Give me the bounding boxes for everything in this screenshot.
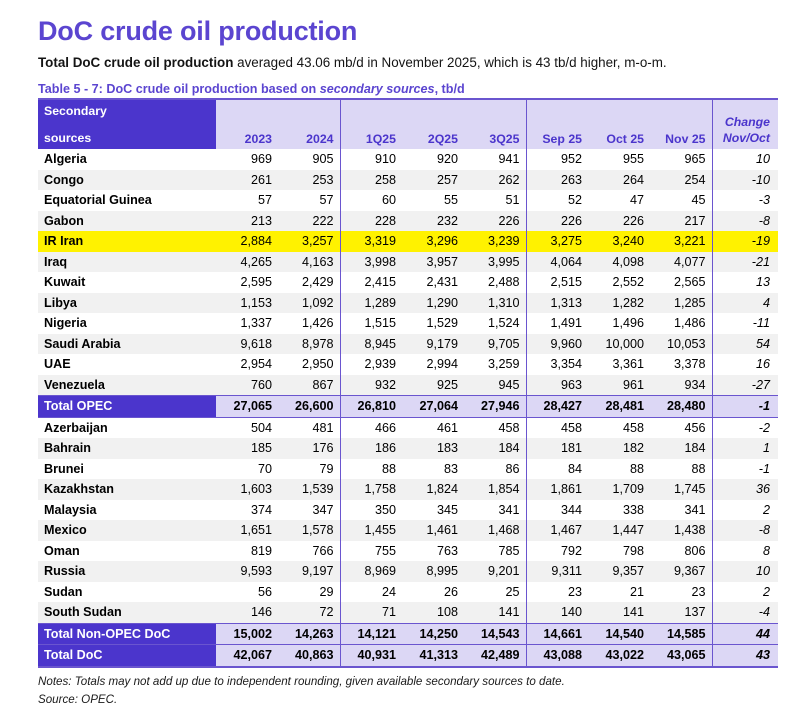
summary-lead-bold: Total DoC crude oil production [38,55,233,70]
cell-value: 1,461 [402,520,464,541]
row-label: Mexico [38,520,216,541]
cell-value: 481 [278,417,340,438]
cell-value: 2,515 [526,272,588,293]
cell-value: 458 [526,417,588,438]
cell-value: 9,357 [588,561,650,582]
row-label: Kazakhstan [38,479,216,500]
cell-change: -10 [712,170,778,191]
table-row[interactable]: Oman8197667557637857927988068 [38,541,778,562]
row-label: Malaysia [38,500,216,521]
cell-value: 3,259 [464,354,526,375]
summary-lead-rest: averaged 43.06 mb/d in November 2025, wh… [233,55,666,70]
cell-value: 226 [464,211,526,232]
table-row[interactable]: Equatorial Guinea5757605551524745-3 [38,190,778,211]
cell-change: 8 [712,541,778,562]
cell-value: 1,515 [340,313,402,334]
cell-value: 374 [216,500,278,521]
cell-value: 213 [216,211,278,232]
cell-value: 14,540 [588,623,650,645]
row-label: UAE [38,354,216,375]
table-row[interactable]: Total Non-OPEC DoC15,00214,26314,12114,2… [38,623,778,645]
cell-value: 3,240 [588,231,650,252]
cell-value: 26,810 [340,396,402,418]
row-label: Equatorial Guinea [38,190,216,211]
cell-value: 969 [216,149,278,170]
cell-value: 9,201 [464,561,526,582]
cell-change: -4 [712,602,778,623]
cell-value: 4,265 [216,252,278,273]
cell-value: 934 [650,375,712,396]
cell-value: 83 [402,459,464,480]
table-row[interactable]: Saudi Arabia9,6188,9788,9459,1799,7059,9… [38,334,778,355]
table-row[interactable]: Kuwait2,5952,4292,4152,4312,4882,5152,55… [38,272,778,293]
cell-value: 3,998 [340,252,402,273]
cell-value: 945 [464,375,526,396]
cell-value: 21 [588,582,650,603]
cell-change: -3 [712,190,778,211]
column-header-2q25: 2Q25 [402,99,464,149]
cell-value: 222 [278,211,340,232]
cell-change: -11 [712,313,778,334]
caption-prefix: Table 5 - 7: DoC crude oil production ba… [38,82,320,96]
header-name-line2: sources [44,130,91,146]
row-label: Nigeria [38,313,216,334]
row-label: Azerbaijan [38,417,216,438]
cell-value: 14,661 [526,623,588,645]
column-header-oct-25: Oct 25 [588,99,650,149]
cell-value: 262 [464,170,526,191]
cell-value: 2,552 [588,272,650,293]
row-label: Congo [38,170,216,191]
row-label: Sudan [38,582,216,603]
cell-value: 57 [278,190,340,211]
cell-value: 217 [650,211,712,232]
cell-value: 1,468 [464,520,526,541]
table-row[interactable]: Gabon213222228232226226226217-8 [38,211,778,232]
cell-value: 1,313 [526,293,588,314]
cell-change: -2 [712,417,778,438]
cell-value: 1,486 [650,313,712,334]
cell-value: 1,496 [588,313,650,334]
column-header-3q25: 3Q25 [464,99,526,149]
cell-value: 461 [402,417,464,438]
cell-value: 24 [340,582,402,603]
cell-change: -19 [712,231,778,252]
cell-value: 1,092 [278,293,340,314]
cell-value: 1,529 [402,313,464,334]
cell-value: 263 [526,170,588,191]
cell-value: 258 [340,170,402,191]
cell-value: 1,578 [278,520,340,541]
cell-value: 8,995 [402,561,464,582]
cell-value: 86 [464,459,526,480]
cell-value: 925 [402,375,464,396]
cell-value: 792 [526,541,588,562]
cell-value: 1,651 [216,520,278,541]
header-change-line1: Change [713,115,771,130]
table-header-row: Secondary sources 2023 2024 1Q25 2Q25 3Q… [38,99,778,149]
cell-value: 146 [216,602,278,623]
cell-value: 79 [278,459,340,480]
cell-value: 47 [588,190,650,211]
cell-value: 1,438 [650,520,712,541]
cell-value: 2,939 [340,354,402,375]
cell-change: 44 [712,623,778,645]
cell-value: 2,431 [402,272,464,293]
row-label: IR Iran [38,231,216,252]
cell-value: 185 [216,438,278,459]
cell-value: 181 [526,438,588,459]
cell-value: 9,593 [216,561,278,582]
cell-value: 25 [464,582,526,603]
cell-value: 3,257 [278,231,340,252]
caption-suffix: , tb/d [435,82,465,96]
cell-value: 1,282 [588,293,650,314]
cell-change: -27 [712,375,778,396]
cell-value: 1,455 [340,520,402,541]
cell-value: 9,367 [650,561,712,582]
cell-value: 4,163 [278,252,340,273]
row-label: Brunei [38,459,216,480]
cell-value: 226 [526,211,588,232]
cell-value: 963 [526,375,588,396]
cell-value: 8,978 [278,334,340,355]
cell-value: 2,884 [216,231,278,252]
cell-value: 264 [588,170,650,191]
row-label: Venezuela [38,375,216,396]
caption-emphasis: secondary sources [320,82,435,96]
cell-value: 4,098 [588,252,650,273]
cell-value: 1,524 [464,313,526,334]
cell-change: 2 [712,582,778,603]
cell-value: 3,361 [588,354,650,375]
cell-value: 14,585 [650,623,712,645]
cell-change: -1 [712,396,778,418]
column-header-2023: 2023 [216,99,278,149]
cell-value: 27,064 [402,396,464,418]
cell-value: 60 [340,190,402,211]
cell-value: 29 [278,582,340,603]
cell-value: 504 [216,417,278,438]
cell-value: 176 [278,438,340,459]
cell-value: 57 [216,190,278,211]
cell-value: 760 [216,375,278,396]
cell-value: 952 [526,149,588,170]
cell-value: 1,491 [526,313,588,334]
cell-change: -1 [712,459,778,480]
cell-value: 184 [464,438,526,459]
cell-value: 345 [402,500,464,521]
cell-value: 798 [588,541,650,562]
cell-change: 10 [712,561,778,582]
cell-value: 1,709 [588,479,650,500]
cell-value: 26 [402,582,464,603]
cell-value: 183 [402,438,464,459]
cell-change: 13 [712,272,778,293]
cell-value: 755 [340,541,402,562]
cell-value: 1,758 [340,479,402,500]
row-label: Oman [38,541,216,562]
cell-value: 1,854 [464,479,526,500]
cell-value: 26,600 [278,396,340,418]
cell-value: 3,319 [340,231,402,252]
cell-value: 920 [402,149,464,170]
cell-value: 55 [402,190,464,211]
table-row[interactable]: Algeria96990591092094195295596510 [38,149,778,170]
cell-value: 226 [588,211,650,232]
table-row[interactable]: Azerbaijan504481466461458458458456-2 [38,417,778,438]
cell-value: 2,994 [402,354,464,375]
table-row[interactable]: Russia9,5939,1978,9698,9959,2019,3119,35… [38,561,778,582]
cell-value: 9,311 [526,561,588,582]
column-header-1q25: 1Q25 [340,99,402,149]
cell-value: 28,481 [588,396,650,418]
cell-value: 1,603 [216,479,278,500]
row-label: Russia [38,561,216,582]
cell-value: 15,002 [216,623,278,645]
row-label: South Sudan [38,602,216,623]
cell-value: 254 [650,170,712,191]
cell-value: 4,077 [650,252,712,273]
cell-value: 2,595 [216,272,278,293]
cell-change: 10 [712,149,778,170]
cell-value: 1,467 [526,520,588,541]
cell-value: 3,239 [464,231,526,252]
cell-value: 3,354 [526,354,588,375]
cell-value: 785 [464,541,526,562]
row-label: Gabon [38,211,216,232]
row-label: Algeria [38,149,216,170]
cell-value: 1,745 [650,479,712,500]
cell-value: 9,705 [464,334,526,355]
cell-value: 23 [650,582,712,603]
table-body: Algeria96990591092094195295596510Congo26… [38,149,778,667]
cell-value: 1,289 [340,293,402,314]
column-header-2024: 2024 [278,99,340,149]
cell-value: 3,296 [402,231,464,252]
cell-value: 2,565 [650,272,712,293]
column-header-change-nov-oct: Change Nov/Oct [712,99,778,149]
summary-paragraph: Total DoC crude oil production averaged … [38,54,776,72]
cell-value: 2,415 [340,272,402,293]
table-row[interactable]: Nigeria1,3371,4261,5151,5291,5241,4911,4… [38,313,778,334]
column-header-secondary-sources: Secondary sources [38,99,216,149]
cell-value: 2,488 [464,272,526,293]
table-row[interactable]: Malaysia3743473503453413443383412 [38,500,778,521]
report-page: DoC crude oil production Total DoC crude… [0,0,792,648]
cell-value: 9,197 [278,561,340,582]
table-row[interactable]: Bahrain1851761861831841811821841 [38,438,778,459]
row-label: Total OPEC [38,396,216,418]
cell-value: 10,000 [588,334,650,355]
table-caption: Table 5 - 7: DoC crude oil production ba… [38,81,776,97]
cell-value: 347 [278,500,340,521]
header-change-line2: Nov/Oct [713,130,771,146]
cell-value: 2,950 [278,354,340,375]
cell-value: 51 [464,190,526,211]
table-row[interactable]: Libya1,1531,0921,2891,2901,3101,3131,282… [38,293,778,314]
cell-value: 3,378 [650,354,712,375]
cell-value: 1,285 [650,293,712,314]
cell-value: 965 [650,149,712,170]
table-row[interactable]: South Sudan1467271108141140141137-4 [38,602,778,623]
table-row[interactable]: Total OPEC27,06526,60026,81027,06427,946… [38,396,778,418]
cell-value: 261 [216,170,278,191]
cell-value: 8,969 [340,561,402,582]
cell-change: -8 [712,520,778,541]
cell-value: 341 [650,500,712,521]
cell-change: 4 [712,293,778,314]
cell-value: 141 [464,602,526,623]
cell-value: 955 [588,149,650,170]
cell-value: 344 [526,500,588,521]
cell-value: 27,065 [216,396,278,418]
cell-value: 766 [278,541,340,562]
table-row[interactable]: Sudan56292426252321232 [38,582,778,603]
cell-change: 1 [712,438,778,459]
cell-value: 2,954 [216,354,278,375]
cell-value: 867 [278,375,340,396]
table-notes: Notes: Totals may not add up due to inde… [38,673,776,691]
cell-value: 70 [216,459,278,480]
cell-value: 3,221 [650,231,712,252]
cell-value: 1,447 [588,520,650,541]
cell-value: 2,429 [278,272,340,293]
cell-value: 257 [402,170,464,191]
cell-value: 763 [402,541,464,562]
cell-change: -8 [712,211,778,232]
cell-value: 14,263 [278,623,340,645]
table-row[interactable]: UAE2,9542,9502,9392,9943,2593,3543,3613,… [38,354,778,375]
row-label: Iraq [38,252,216,273]
cell-value: 14,121 [340,623,402,645]
cell-value: 45 [650,190,712,211]
cell-value: 1,153 [216,293,278,314]
table-row[interactable]: Brunei7079888386848888-1 [38,459,778,480]
cell-value: 28,427 [526,396,588,418]
cell-value: 1,824 [402,479,464,500]
cell-value: 186 [340,438,402,459]
table-head: Secondary sources 2023 2024 1Q25 2Q25 3Q… [38,99,778,149]
cell-value: 72 [278,602,340,623]
row-label: Kuwait [38,272,216,293]
table-row[interactable]: Kazakhstan1,6031,5391,7581,8241,8541,861… [38,479,778,500]
cell-value: 1,426 [278,313,340,334]
column-header-nov-25: Nov 25 [650,99,712,149]
table-source: Source: OPEC. [38,691,776,709]
cell-value: 1,290 [402,293,464,314]
cell-value: 84 [526,459,588,480]
cell-value: 1,310 [464,293,526,314]
cell-value: 341 [464,500,526,521]
cell-value: 9,960 [526,334,588,355]
cell-change: -21 [712,252,778,273]
cell-value: 228 [340,211,402,232]
table-row[interactable]: Congo261253258257262263264254-10 [38,170,778,191]
cell-value: 819 [216,541,278,562]
cell-value: 140 [526,602,588,623]
cell-value: 4,064 [526,252,588,273]
cell-value: 23 [526,582,588,603]
cell-value: 88 [588,459,650,480]
cell-value: 52 [526,190,588,211]
cell-value: 941 [464,149,526,170]
cell-value: 932 [340,375,402,396]
cell-value: 27,946 [464,396,526,418]
cell-value: 1,337 [216,313,278,334]
cell-value: 137 [650,602,712,623]
cell-value: 141 [588,602,650,623]
cell-value: 232 [402,211,464,232]
doc-crude-oil-production-table: Secondary sources 2023 2024 1Q25 2Q25 3Q… [38,98,778,668]
table-row[interactable]: Venezuela760867932925945963961934-27 [38,375,778,396]
cell-value: 253 [278,170,340,191]
cell-value: 466 [340,417,402,438]
cell-value: 71 [340,602,402,623]
cell-value: 910 [340,149,402,170]
cell-value: 1,861 [526,479,588,500]
cell-value: 8,945 [340,334,402,355]
cell-value: 88 [650,459,712,480]
cell-value: 9,179 [402,334,464,355]
cell-change: 16 [712,354,778,375]
cell-value: 350 [340,500,402,521]
cell-change: 36 [712,479,778,500]
cell-value: 1,539 [278,479,340,500]
cell-value: 3,957 [402,252,464,273]
row-label: Bahrain [38,438,216,459]
cell-value: 338 [588,500,650,521]
cell-value: 10,053 [650,334,712,355]
cell-value: 9,618 [216,334,278,355]
cell-value: 456 [650,417,712,438]
cell-value: 14,250 [402,623,464,645]
cell-value: 56 [216,582,278,603]
row-label: Libya [38,293,216,314]
cell-value: 14,543 [464,623,526,645]
cell-change: 54 [712,334,778,355]
table-row[interactable]: Mexico1,6511,5781,4551,4611,4681,4671,44… [38,520,778,541]
cell-value: 182 [588,438,650,459]
cell-value: 3,275 [526,231,588,252]
column-header-sep-25: Sep 25 [526,99,588,149]
header-name-line1: Secondary [44,100,216,119]
page-title: DoC crude oil production [38,14,776,48]
cell-value: 458 [588,417,650,438]
cell-value: 88 [340,459,402,480]
cell-value: 458 [464,417,526,438]
row-label: Total Non-OPEC DoC [38,623,216,645]
cell-value: 3,995 [464,252,526,273]
cell-value: 184 [650,438,712,459]
cell-value: 806 [650,541,712,562]
cell-value: 961 [588,375,650,396]
row-label: Saudi Arabia [38,334,216,355]
cell-value: 108 [402,602,464,623]
table-row[interactable]: Iraq4,2654,1633,9983,9573,9954,0644,0984… [38,252,778,273]
cell-change: 2 [712,500,778,521]
table-row[interactable]: IR Iran2,8843,2573,3193,2963,2393,2753,2… [38,231,778,252]
cell-value: 905 [278,149,340,170]
cell-value: 28,480 [650,396,712,418]
